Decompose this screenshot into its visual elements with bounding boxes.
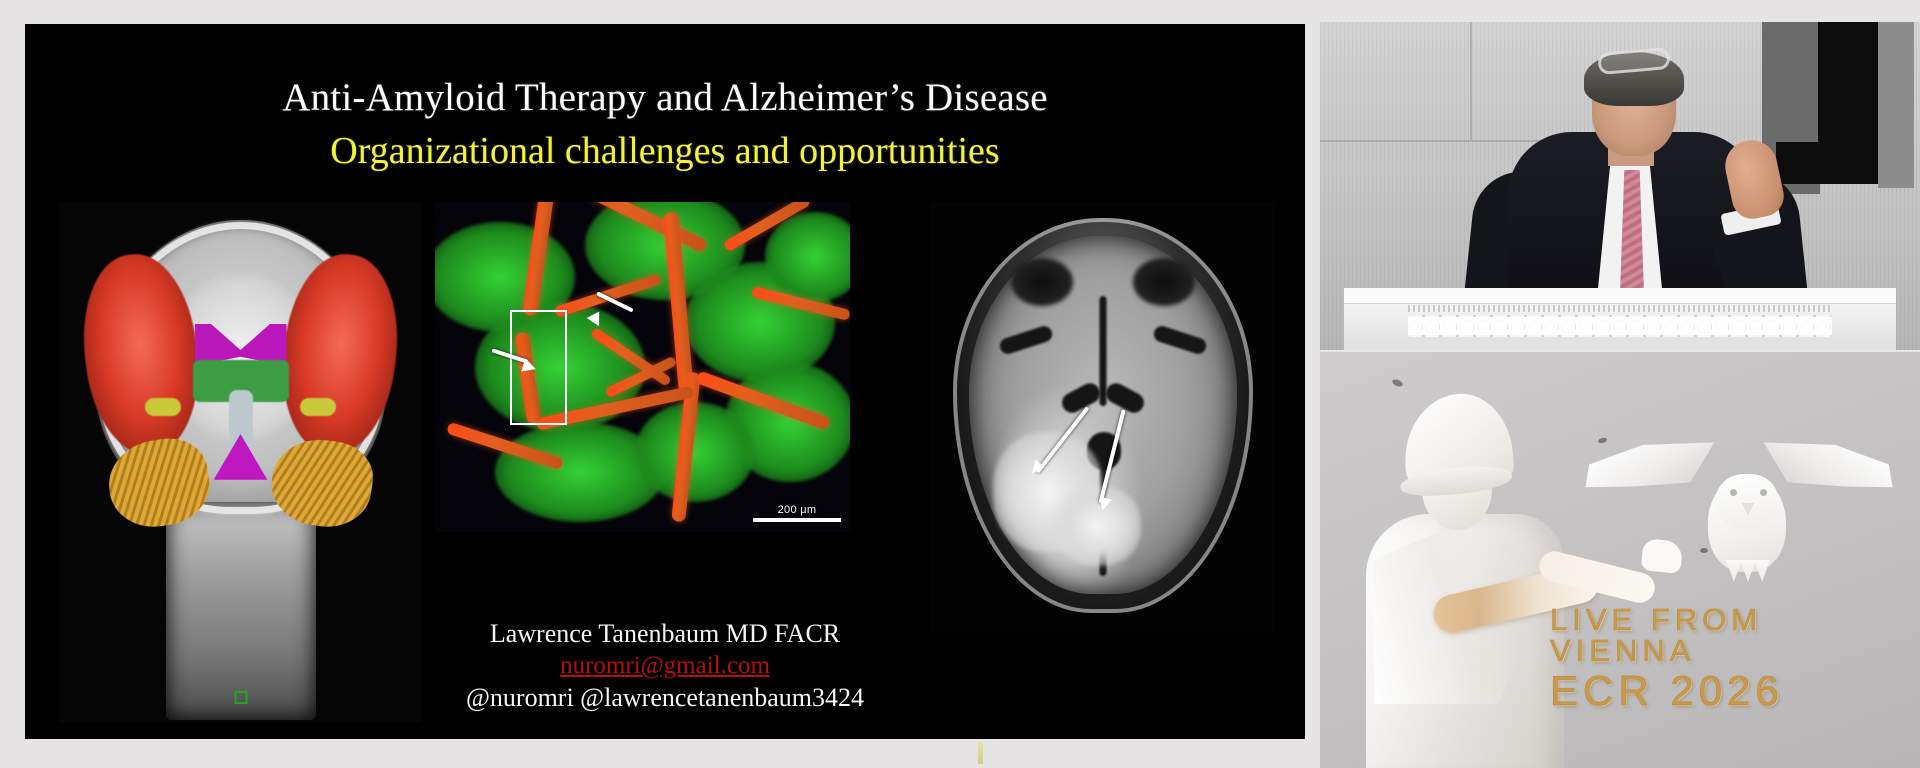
hippocampus-left-overlay [145,398,181,416]
event-branding-video-feed[interactable]: LIVE FROM VIENNA ECR 2026 [1320,352,1920,768]
owl-eye-left [1730,489,1737,496]
owl-talons [1726,560,1770,582]
presenter-social-handles: @nuromri @lawrencetanenbaum3424 [25,683,1305,713]
scale-bar-label: 200 μm [753,504,841,516]
lectern-top [1344,288,1896,304]
wall-display-screen [1776,142,1880,184]
slide-title-primary: Anti-Amyloid Therapy and Alzheimer’s Dis… [25,76,1305,120]
hippocampus-right-overlay [300,398,336,416]
slide-footer: Lawrence Tanenbaum MD FACR nuromri@gmail… [25,619,1305,713]
lectern-dentil-molding [1408,305,1832,312]
figure-axial-flair-mri [930,202,1275,632]
slide-figure-row: 200 μm [25,202,1305,622]
presentation-stage: Anti-Amyloid Therapy and Alzheimer’s Dis… [0,0,1920,768]
wall-seam [1470,22,1472,140]
brand-event-name: ECR 2026 [1550,670,1920,712]
slide-title-block: Anti-Amyloid Therapy and Alzheimer’s Dis… [25,76,1305,172]
skull-rim [953,218,1253,613]
speaker-video-feed[interactable] [1320,22,1920,350]
lectern [1344,288,1896,350]
owl-wing-left [1576,400,1728,537]
figure-two-photon-microscopy: 200 μm [435,202,850,532]
event-branding-text: LIVE FROM VIENNA ECR 2026 [1550,604,1920,712]
lectern-base [1344,338,1896,350]
presenter-email-link[interactable]: nuromri@gmail.com [560,652,770,680]
scale-bar-line [753,518,841,522]
scale-bar: 200 μm [753,504,841,522]
presentation-slide[interactable]: Anti-Amyloid Therapy and Alzheimer’s Dis… [25,24,1305,739]
playback-progress-marker[interactable] [978,742,983,764]
slide-title-secondary: Organizational challenges and opportunit… [25,130,1305,173]
debris-speck [1391,378,1403,388]
lectern-egg-and-dart-molding [1408,315,1832,337]
brand-tagline: LIVE FROM VIENNA [1550,604,1920,666]
region-of-interest-box [510,310,567,425]
debris-speck [1598,437,1608,444]
owl-face [1716,474,1778,530]
wall-panel [1878,22,1914,188]
owl-beak [1742,503,1754,516]
owl-icon [1620,402,1870,592]
owl-eye-right [1760,489,1767,496]
presenter-name: Lawrence Tanenbaum MD FACR [25,619,1305,649]
